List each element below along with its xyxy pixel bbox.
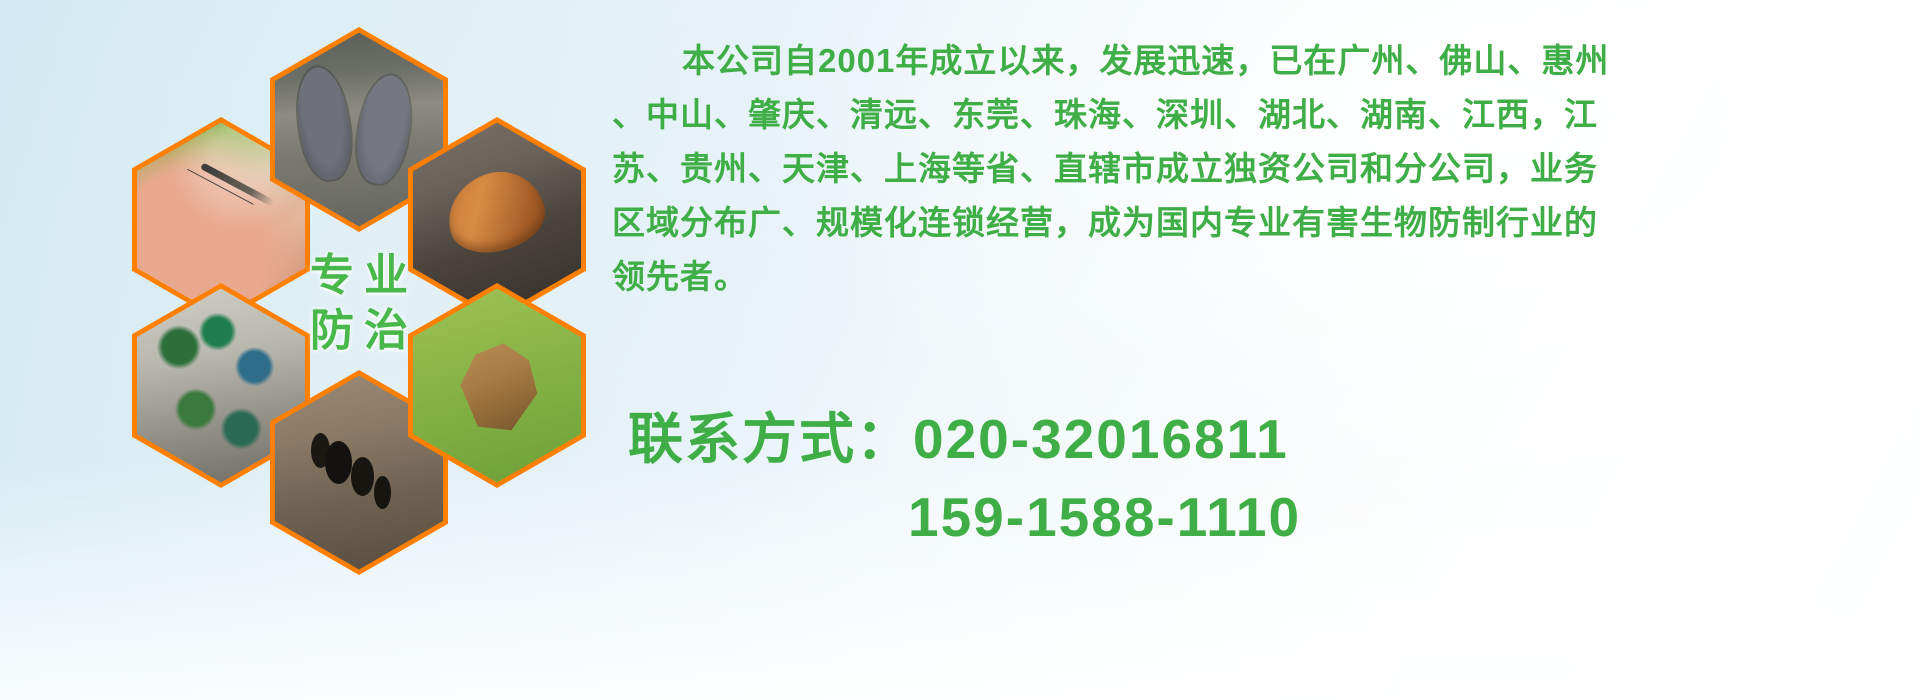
contact-phone-landline[interactable]: 联系方式：020-32016811 bbox=[612, 400, 1902, 478]
description-line-5: 领先者。 bbox=[612, 250, 1902, 304]
promo-banner: 专业 防治 本公司自2001年成立以来，发展迅速，已在广州、佛山、惠州 、中山、… bbox=[0, 0, 1920, 700]
contact-block: 联系方式：020-32016811 159-1588-1110 bbox=[612, 400, 1902, 556]
company-description: 本公司自2001年成立以来，发展迅速，已在广州、佛山、惠州 、中山、肇庆、清远、… bbox=[612, 34, 1902, 304]
description-line-1: 本公司自2001年成立以来，发展迅速，已在广州、佛山、惠州 bbox=[612, 34, 1902, 88]
center-label-line1: 专业 bbox=[300, 248, 418, 303]
description-line-2: 、中山、肇庆、清远、东莞、珠海、深圳、湖北、湖南、江西，江 bbox=[612, 88, 1902, 142]
description-line-3: 苏、贵州、天津、上海等省、直辖市成立独资公司和分公司，业务 bbox=[612, 142, 1902, 196]
description-text-1: 本公司自2001年成立以来，发展迅速，已在广州、佛山、惠州 bbox=[682, 42, 1609, 79]
description-line-4: 区域分布广、规模化连锁经营，成为国内专业有害生物防制行业的 bbox=[612, 196, 1902, 250]
honeycomb-collage: 专业 防治 bbox=[90, 0, 610, 700]
center-label-line2: 防治 bbox=[300, 303, 418, 358]
contact-phone-mobile[interactable]: 159-1588-1110 bbox=[612, 478, 1902, 556]
